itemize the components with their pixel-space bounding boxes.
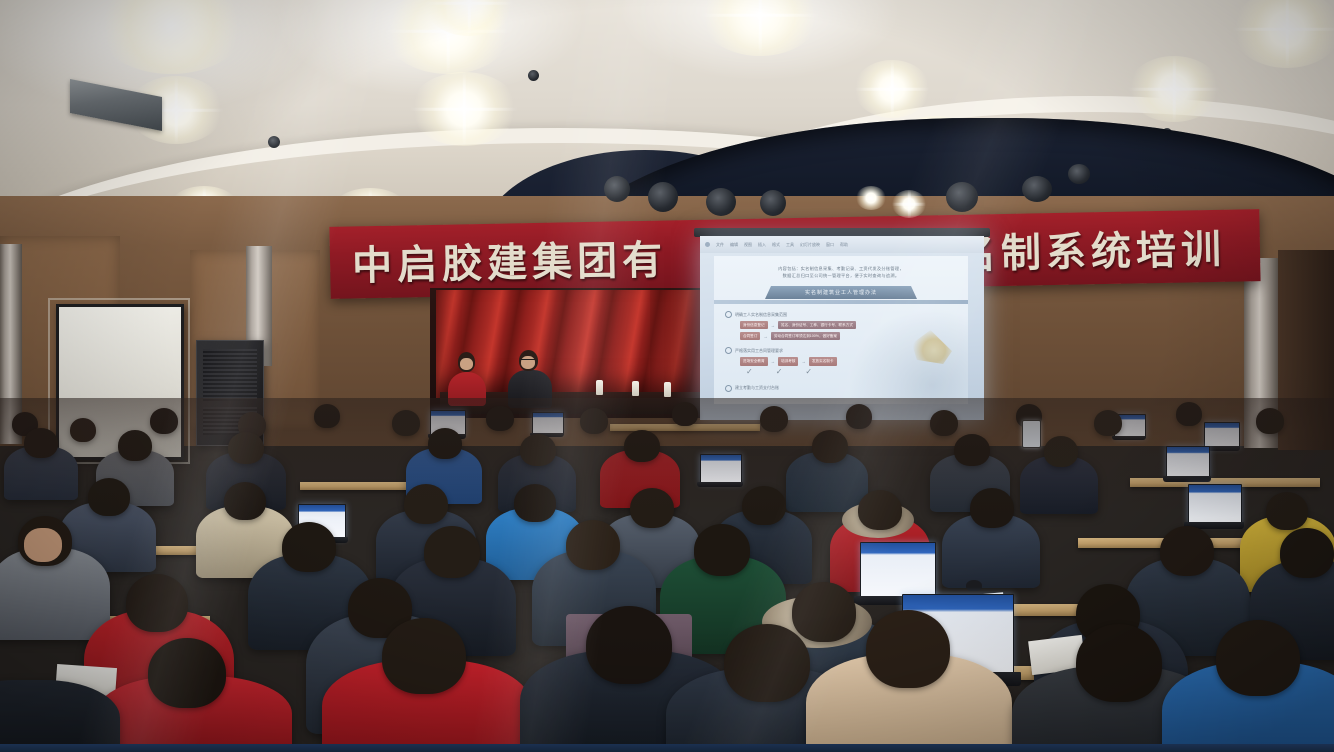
slide-title-rule [714, 300, 968, 304]
attendee-head [314, 404, 340, 428]
attendee-head [150, 408, 178, 434]
attendee-head [428, 428, 462, 459]
slide-chip: 进场安全教育 [740, 357, 768, 365]
attendee-head [724, 624, 810, 702]
bullet-circle-icon [725, 347, 732, 354]
attendee-head [672, 402, 698, 426]
menu-item-tools: 工具 [786, 242, 794, 248]
slide-lead-line-1: 内容包括：实名制信息采集、考勤记录、工资代发及分账管理， [714, 256, 968, 272]
attendee-head [514, 484, 556, 522]
attendee-head [930, 410, 958, 436]
attendee-head [1256, 408, 1284, 434]
attendee-head [566, 520, 620, 570]
arrow-right-icon: → [763, 334, 768, 339]
toolbar-dot-icon [705, 242, 710, 247]
menu-item-insert: 插入 [758, 242, 766, 248]
attendee-head [846, 404, 872, 429]
photo-scene: 中启胶建集团有 名制系统培训 文件 编辑 视图 插入 格式 工具 幻灯片放映 窗… [0, 0, 1334, 752]
stage-light [1022, 176, 1052, 202]
menu-item-slideshow: 幻灯片放映 [800, 242, 820, 248]
attendee-head [1076, 624, 1162, 702]
slide-bullet-text: 建立考勤与工资支付台账 [735, 385, 779, 391]
attendee-head [760, 406, 788, 432]
attendee-head [866, 610, 950, 688]
attendee-head [1094, 410, 1122, 436]
attendee-head [382, 618, 466, 694]
slide-chip: 合同签订 [740, 332, 760, 340]
attendee-head [392, 410, 420, 436]
smartphone [1022, 420, 1041, 448]
glasses-icon [521, 359, 535, 363]
attendee-head [1176, 402, 1202, 426]
attendee-head [1216, 620, 1300, 696]
attendee-head [88, 478, 130, 516]
attendee-head [126, 574, 188, 632]
attendee-head [404, 484, 448, 524]
menu-item-view: 视图 [744, 242, 752, 248]
attendee-head [1044, 436, 1078, 467]
attendee-head [580, 408, 608, 434]
slide-window-toolbar: 文件 编辑 视图 插入 格式 工具 幻灯片放映 窗口 帮助 [700, 236, 984, 253]
stage-light [604, 176, 630, 202]
check-icon: ✓ [776, 368, 783, 376]
attendee-face [24, 528, 62, 562]
stage-light [760, 190, 786, 216]
slide-chip: 培训考核 [778, 357, 798, 365]
menu-item-help: 帮助 [840, 242, 848, 248]
water-bottle [632, 381, 639, 396]
attendee-head [1160, 526, 1214, 576]
attendee-head [224, 482, 266, 520]
stage-light [1068, 164, 1090, 184]
laptop-base [697, 482, 743, 487]
bullet-circle-icon [725, 385, 732, 392]
check-icon: ✓ [805, 368, 812, 376]
attendee-head [228, 432, 264, 464]
arrow-right-icon: → [771, 323, 776, 328]
laptop-screen [700, 454, 742, 484]
slide-lead-line-2: 数据汇总归口至公司统一管理平台，便于实时查询与追溯。 [714, 272, 968, 279]
attendee-head [520, 434, 556, 466]
stage-light [706, 188, 736, 216]
banner-text-right: 名制系统培训 [955, 217, 1226, 280]
computer-mouse [966, 580, 982, 591]
attendee-head [812, 430, 848, 463]
laptop-base [1163, 476, 1211, 482]
slide-content: 内容包括：实名制信息采集、考勤记录、工资代发及分账管理， 数据汇总归口至公司统一… [714, 256, 968, 404]
attendee-head [694, 524, 750, 576]
arrow-right-icon: → [801, 359, 806, 364]
projection-screen: 文件 编辑 视图 插入 格式 工具 幻灯片放映 窗口 帮助 内容包括：实名制信息… [700, 236, 984, 420]
bottom-edge-strip [0, 744, 1334, 752]
attendee-head [1266, 492, 1308, 530]
audience-area [0, 398, 1334, 752]
water-bottle [664, 382, 671, 397]
slide-title-banner: 实名制建筑业工人管理办法 [765, 286, 917, 299]
attendee-head [954, 434, 990, 466]
laptop-screen [532, 412, 564, 435]
laptop-screen [1188, 484, 1242, 524]
attendee-head [630, 488, 674, 528]
ceiling-spot-fixture [528, 70, 539, 81]
bullet-circle-icon [725, 311, 732, 318]
laptop-screen [1204, 422, 1240, 448]
slide-chip: 发放实名制卡 [809, 357, 837, 365]
attendee-head [424, 526, 480, 578]
laptop-screen [1166, 446, 1210, 478]
stage-light [648, 182, 678, 212]
attendee-head [742, 486, 786, 525]
menu-item-window: 窗口 [826, 242, 834, 248]
banner-text-left: 中启胶建集团有 [352, 227, 668, 291]
menu-item-edit: 编辑 [730, 242, 738, 248]
ceiling-spot-fixture [268, 136, 280, 148]
slide-bullet-text: 严格落实用工合同管理要求 [735, 348, 783, 354]
attendee-head [118, 430, 152, 461]
water-bottle [596, 380, 603, 395]
slide-chip: 劳动合同签订率须达到100%，做好备案 [771, 332, 840, 340]
arrow-right-icon: → [771, 359, 776, 364]
attendee-head [792, 582, 856, 642]
attendee-head [624, 430, 660, 462]
speaker-grille [203, 349, 257, 401]
stage-light-lamp [856, 186, 886, 210]
attendee-head [148, 638, 226, 708]
attendee-head [282, 522, 336, 572]
presenter-left-face [460, 358, 473, 370]
slide-chip: 身份信息登记 [740, 321, 768, 329]
attendee-head [586, 606, 672, 684]
slide-audience-shadow [848, 308, 968, 404]
check-icon: ✓ [746, 368, 753, 376]
presenter-left [446, 352, 488, 404]
menu-item-file: 文件 [716, 242, 724, 248]
slide-chip: 姓名、身份证号、工种、银行卡号、联系方式 [778, 321, 856, 329]
laptop-base [1112, 436, 1146, 440]
attendee-head [24, 428, 58, 458]
attendee-head [486, 406, 514, 431]
slide-bullet-text: 明确工人实名制信息采集范围 [735, 312, 787, 318]
laptop-screen [860, 542, 936, 598]
stage-light [946, 182, 978, 212]
attendee-head [70, 418, 96, 442]
menu-item-format: 格式 [772, 242, 780, 248]
attendee-head [1280, 528, 1334, 578]
attendee-head [858, 490, 902, 530]
attendee-head [970, 488, 1014, 528]
